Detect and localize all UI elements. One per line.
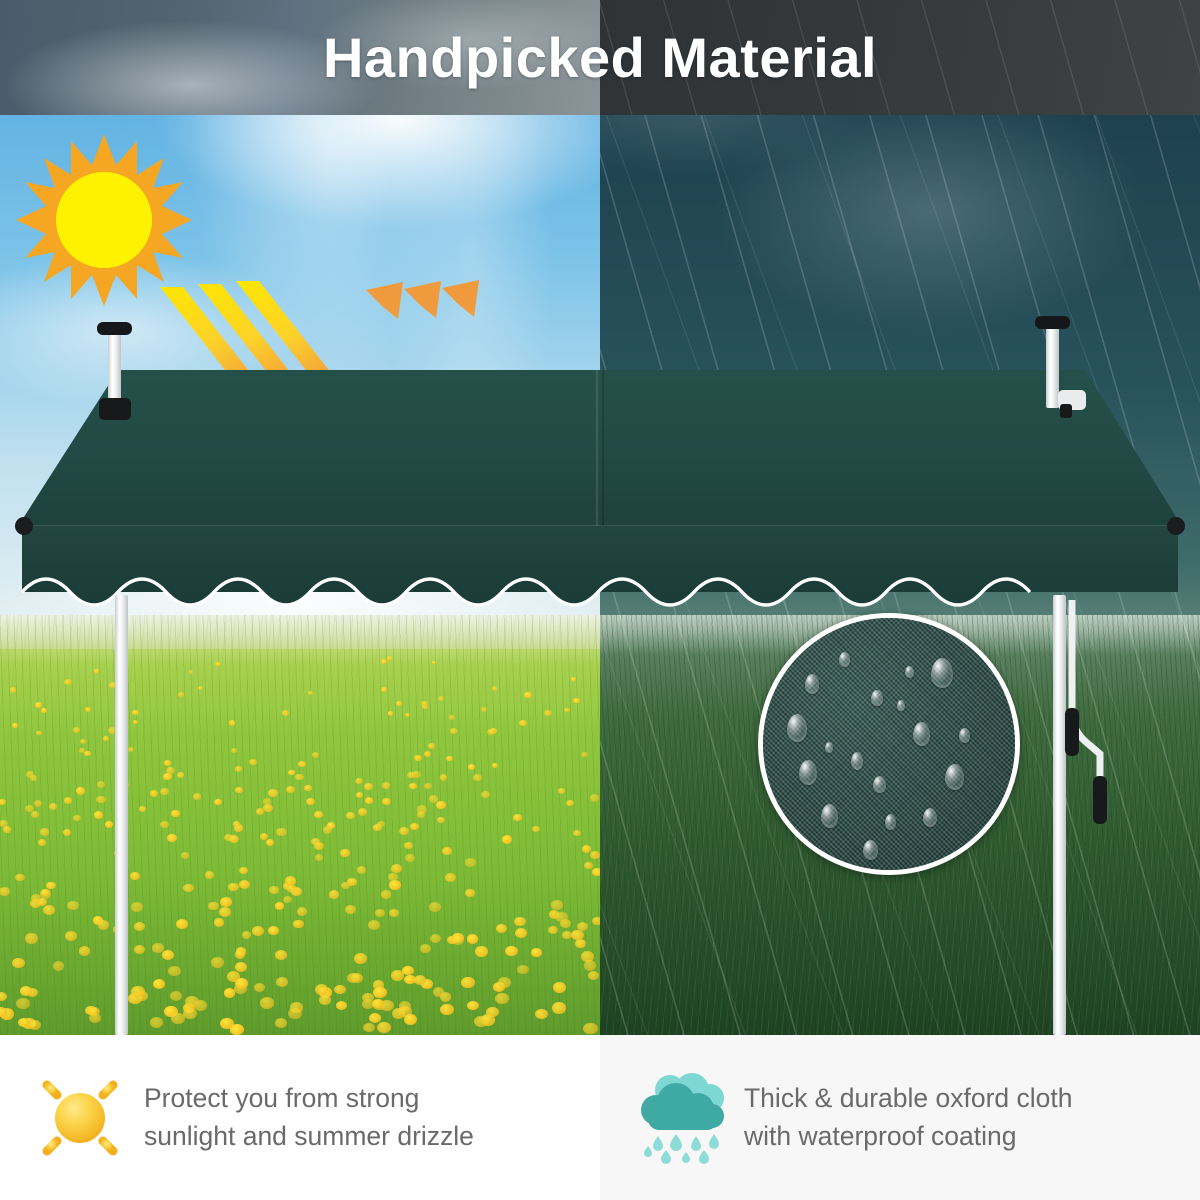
mount-cap-left — [97, 322, 132, 335]
product-feature-image: Handpicked Material — [0, 0, 1200, 1200]
waterproof-fabric-detail — [758, 613, 1020, 875]
mount-bracket-right-pin — [1060, 404, 1072, 418]
feature-item-sun: Protect you from strong sunlight and sum… — [0, 1035, 600, 1200]
sun-icon — [26, 1064, 134, 1172]
roller-end-cap-right — [1167, 517, 1185, 535]
retractable-patio-awning — [0, 330, 1200, 620]
oxford-weave-texture — [759, 614, 1019, 874]
mount-cap-right — [1035, 316, 1070, 329]
mount-post-left — [108, 330, 121, 408]
feature-text-rain: Thick & durable oxford cloth with waterp… — [744, 1080, 1072, 1155]
dandelion-meadow-background — [0, 615, 600, 1035]
mount-bracket-left — [99, 398, 131, 420]
hero-scene — [0, 0, 1200, 1035]
roller-end-cap-left — [15, 517, 33, 535]
hand-crank-icon — [1060, 600, 1150, 830]
rain-cloud-icon — [626, 1064, 734, 1172]
feature-line-2: sunlight and summer drizzle — [144, 1118, 474, 1156]
dandelion-flowers — [0, 615, 600, 1035]
feature-item-rain: Thick & durable oxford cloth with waterp… — [600, 1035, 1200, 1200]
feature-text-sun: Protect you from strong sunlight and sum… — [144, 1080, 474, 1155]
feature-line-1: Protect you from strong — [144, 1080, 474, 1118]
feature-captions: Protect you from strong sunlight and sum… — [0, 1035, 1200, 1200]
feature-line-2: with waterproof coating — [744, 1118, 1072, 1156]
awning-canopy — [22, 370, 1178, 526]
feature-line-1: Thick & durable oxford cloth — [744, 1080, 1072, 1118]
page-title: Handpicked Material — [0, 0, 1200, 115]
support-leg-left — [115, 595, 128, 1035]
rain-drops — [644, 1134, 719, 1164]
